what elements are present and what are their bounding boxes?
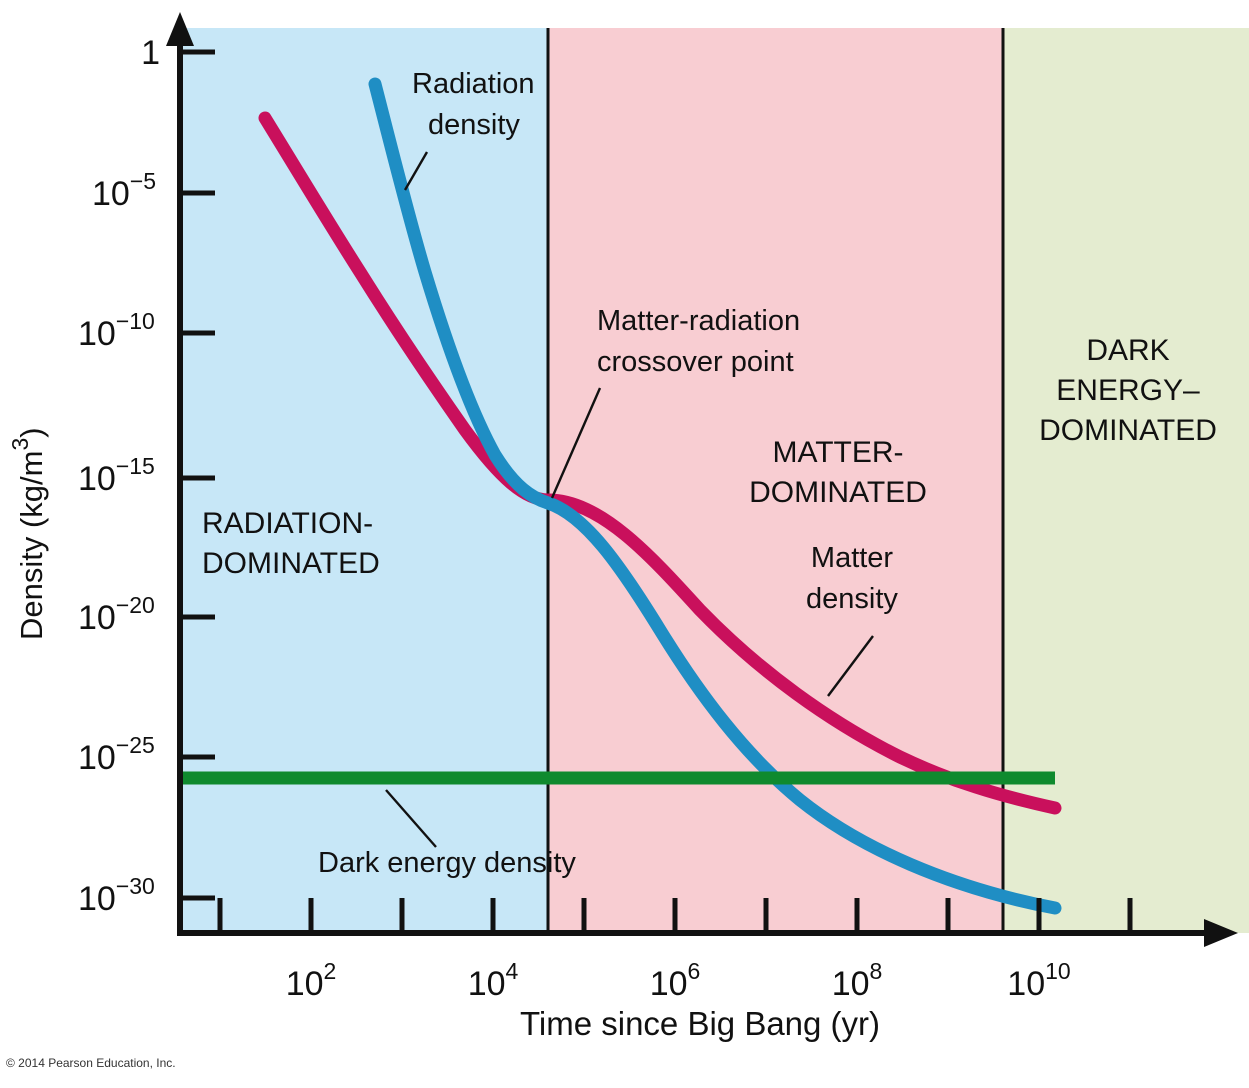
region-label-dark-energy-line1: DARK <box>1086 334 1169 367</box>
callout-radiation-density-line1: Radiation <box>412 68 535 100</box>
region-label-matter-line1: MATTER- <box>772 436 903 469</box>
callout-matter-density-line2: density <box>806 583 898 615</box>
x-tick-label: 102 <box>286 958 337 1003</box>
y-tick-label: 10−30 <box>78 873 155 918</box>
region-label-dark-energy-line2: ENERGY– <box>1056 374 1200 407</box>
y-tick-label: 1 <box>141 34 160 72</box>
y-tick-label: 10−20 <box>78 592 155 637</box>
region-label-radiation-line2: DOMINATED <box>202 547 380 580</box>
x-axis-tick-labels: 102 104 106 108 1010 <box>286 958 1071 1003</box>
copyright-notice: © 2014 Pearson Education, Inc. <box>6 1056 176 1070</box>
region-dark-energy-band <box>1003 28 1249 933</box>
y-tick-label: 10−15 <box>78 453 155 498</box>
y-axis-title: Density (kg/m3) <box>7 427 49 640</box>
y-tick-label: 10−10 <box>78 308 155 353</box>
region-label-radiation-line1: RADIATION- <box>202 507 373 540</box>
callout-dark-energy-density-label: Dark energy density <box>318 847 576 879</box>
callout-crossover-line1: Matter-radiation <box>597 305 800 337</box>
callout-matter-density-line1: Matter <box>811 542 894 574</box>
x-tick-label: 1010 <box>1007 958 1070 1003</box>
y-tick-label: 10−5 <box>92 168 156 213</box>
x-tick-label: 108 <box>832 958 883 1003</box>
chart-canvas: 1 10−5 10−10 10−15 10−20 10−25 10−30 <box>0 0 1249 1088</box>
callout-radiation-density-line2: density <box>428 109 520 141</box>
x-tick-label: 104 <box>468 958 519 1003</box>
region-bands <box>180 28 1249 933</box>
region-radiation-band <box>180 28 548 933</box>
region-label-matter-line2: DOMINATED <box>749 476 927 509</box>
x-axis-title: Time since Big Bang (yr) <box>520 1005 880 1042</box>
callout-crossover-line2: crossover point <box>597 346 794 378</box>
x-tick-label: 106 <box>650 958 701 1003</box>
region-label-dark-energy-line3: DOMINATED <box>1039 414 1217 447</box>
density-vs-time-chart: 1 10−5 10−10 10−15 10−20 10−25 10−30 <box>0 0 1249 1088</box>
y-axis-tick-labels: 1 10−5 10−10 10−15 10−20 10−25 10−30 <box>78 34 160 918</box>
y-tick-label: 10−25 <box>78 732 155 777</box>
